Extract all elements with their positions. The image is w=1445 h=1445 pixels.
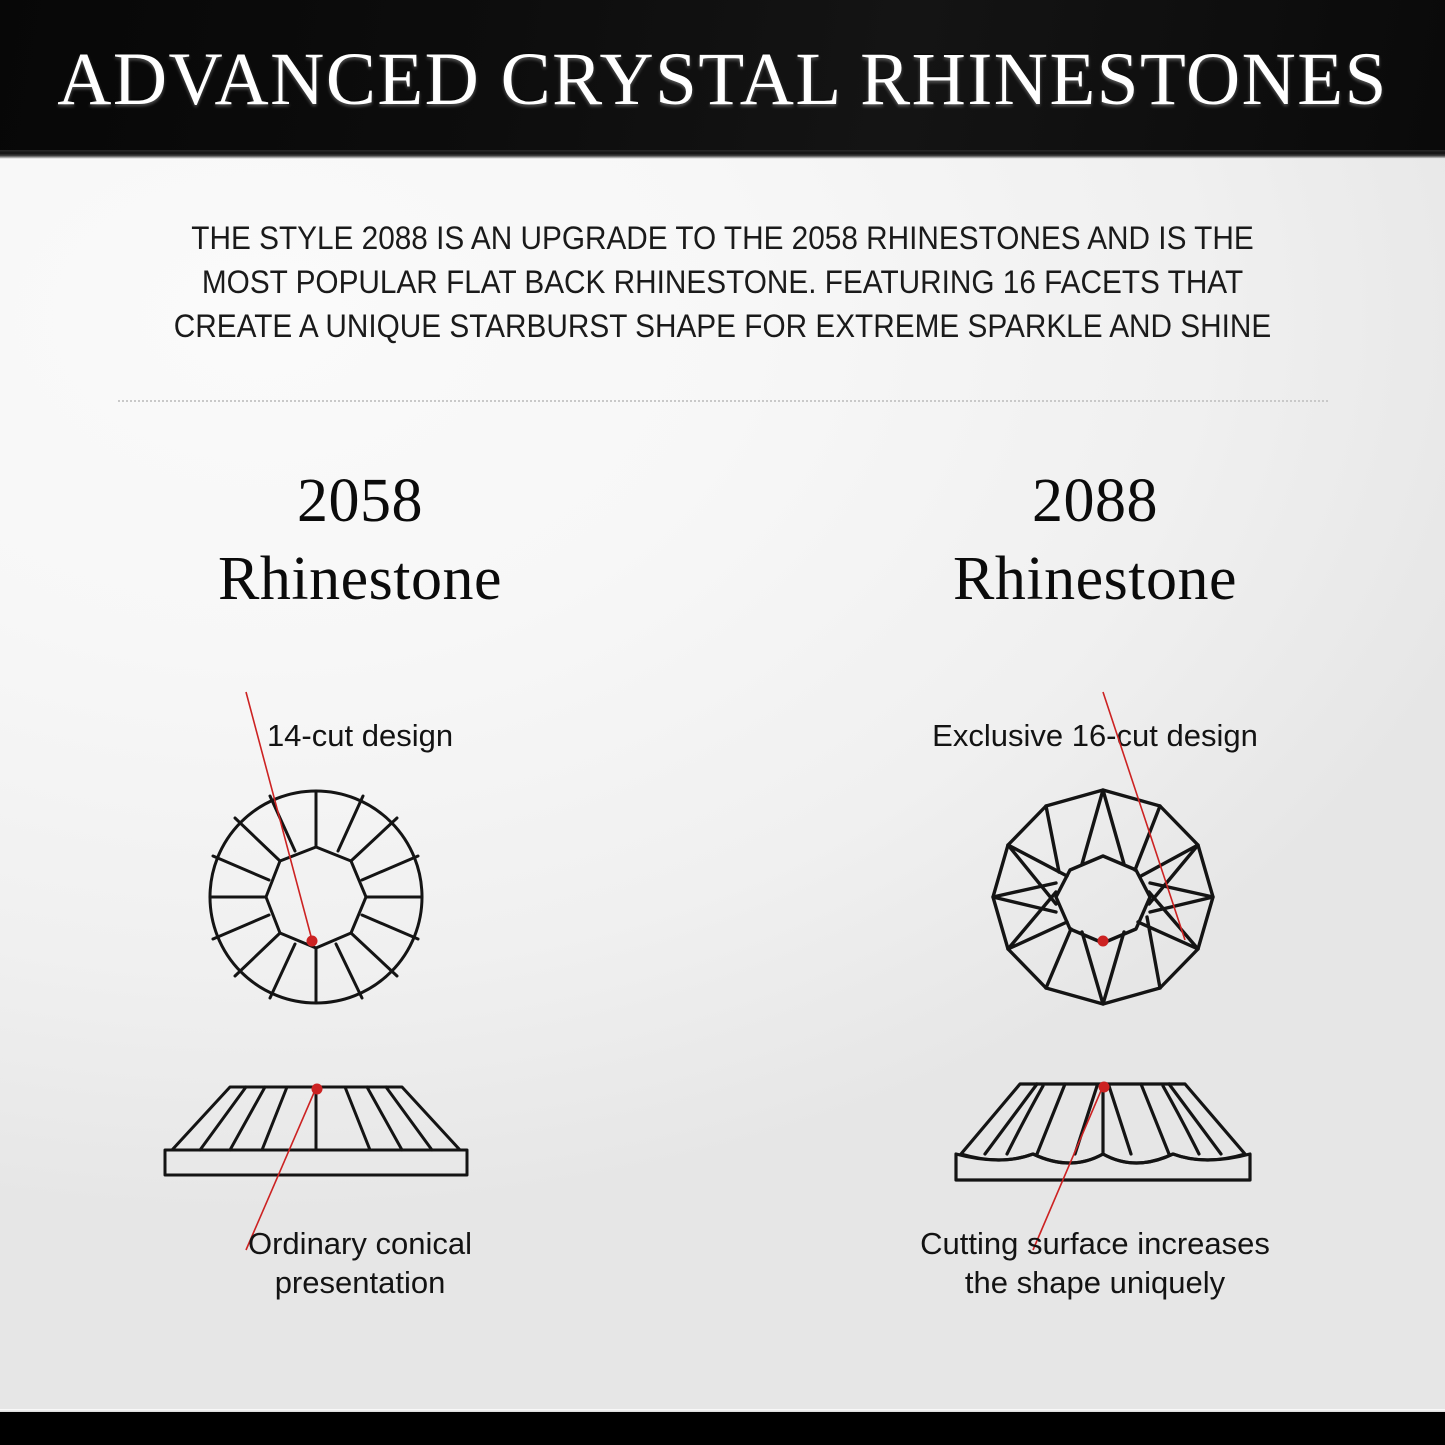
- intro-paragraph: THE STYLE 2088 IS AN UPGRADE TO THE 2058…: [153, 216, 1292, 348]
- column-title-number: 2058: [40, 462, 680, 540]
- footer-band: [0, 1412, 1445, 1445]
- column-2088: 2088 Rhinestone Exclusive 16-cut design: [775, 462, 1415, 1332]
- cone-facet-lines: [200, 1087, 432, 1150]
- column-title-2058: 2058 Rhinestone: [40, 462, 680, 618]
- page-title: ADVANCED CRYSTAL RHINESTONES: [0, 38, 1445, 122]
- caption-line-1: Cutting surface increases: [775, 1224, 1415, 1263]
- leader-dot-top-2088: [1098, 936, 1109, 947]
- column-title-2088: 2088 Rhinestone: [775, 462, 1415, 618]
- gem-top-view-2088: [775, 752, 1415, 1042]
- caption-2058: Ordinary conical presentation: [40, 1224, 680, 1302]
- column-title-word: Rhinestone: [40, 540, 680, 618]
- caption-line-1: Ordinary conical: [40, 1224, 680, 1263]
- header-band: ADVANCED CRYSTAL RHINESTONES: [0, 0, 1445, 158]
- leader-dot-side-2058: [312, 1084, 323, 1095]
- girdle-octagon: [993, 790, 1213, 1004]
- crown-facet-lines: [985, 1084, 1221, 1154]
- infographic-page: ADVANCED CRYSTAL RHINESTONES THE STYLE 2…: [0, 0, 1445, 1445]
- leader-dot-side-2088: [1099, 1082, 1110, 1093]
- header-bottom-highlight: [0, 150, 1445, 159]
- column-title-number: 2088: [775, 462, 1415, 540]
- column-title-word: Rhinestone: [775, 540, 1415, 618]
- caption-2088: Cutting surface increases the shape uniq…: [775, 1224, 1415, 1302]
- column-2058: 2058 Rhinestone 14-cut design: [40, 462, 680, 1332]
- cut-label-2088: Exclusive 16-cut design: [775, 717, 1415, 755]
- intro-line-3: CREATE A UNIQUE STARBURST SHAPE FOR EXTR…: [153, 304, 1292, 348]
- gem-side-view-2088: [775, 1062, 1415, 1232]
- gem-side-view-2058: [40, 1062, 680, 1232]
- section-divider: [118, 400, 1328, 402]
- caption-line-2: presentation: [40, 1263, 680, 1302]
- gem-top-view-2058: [40, 752, 680, 1042]
- cut-label-2058: 14-cut design: [40, 717, 680, 755]
- star-points: [993, 790, 1213, 1004]
- facet-lines: [210, 791, 422, 1003]
- leader-dot-top-2058: [307, 936, 318, 947]
- base-rim: [956, 1154, 1250, 1180]
- girdle-division-lines: [1046, 806, 1160, 988]
- intro-line-1: THE STYLE 2088 IS AN UPGRADE TO THE 2058…: [153, 216, 1292, 260]
- base-rim: [165, 1150, 467, 1175]
- caption-line-2: the shape uniquely: [775, 1263, 1415, 1302]
- intro-line-2: MOST POPULAR FLAT BACK RHINESTONE. FEATU…: [153, 260, 1292, 304]
